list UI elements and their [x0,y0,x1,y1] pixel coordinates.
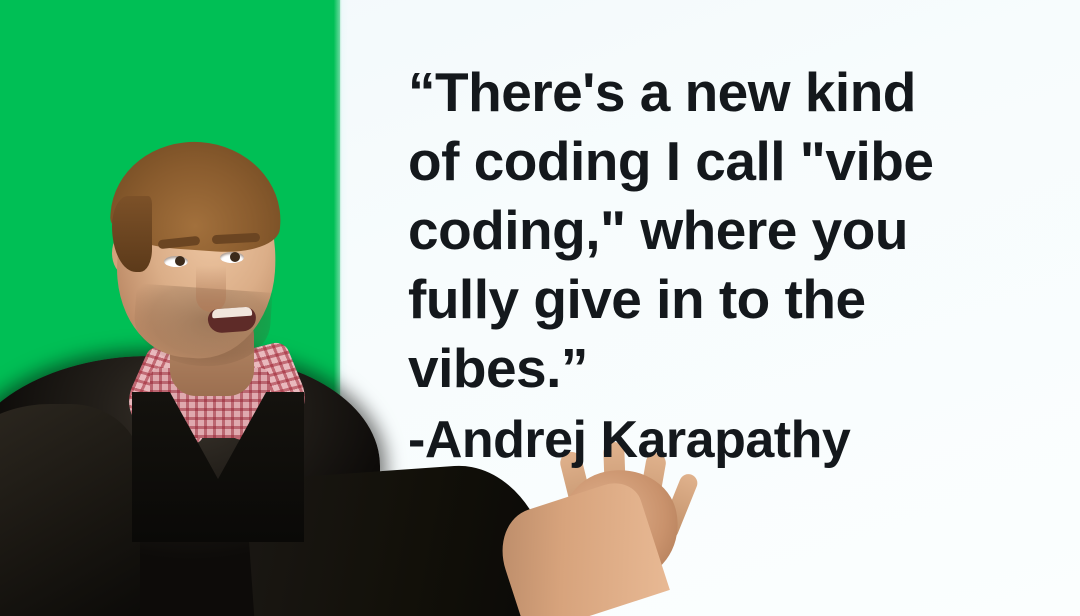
quote-line-5: vibes.” [408,334,1048,403]
pupil-right [230,252,240,262]
quote-line-1: “There's a new kind [408,58,1048,127]
quote-line-3: coding," where you [408,196,1048,265]
quote-text-block: “There's a new kind of coding I call "vi… [408,58,1048,473]
quote-attribution: -Andrej Karapathy [408,407,1048,473]
pupil-left [175,256,185,266]
quote-line-4: fully give in to the [408,265,1048,334]
speaker-photo [0,0,360,616]
quote-line-2: of coding I call "vibe [408,127,1048,196]
nose [196,266,226,312]
quote-card: “There's a new kind of coding I call "vi… [0,0,1080,616]
sweater-left-shoulder [0,404,140,616]
